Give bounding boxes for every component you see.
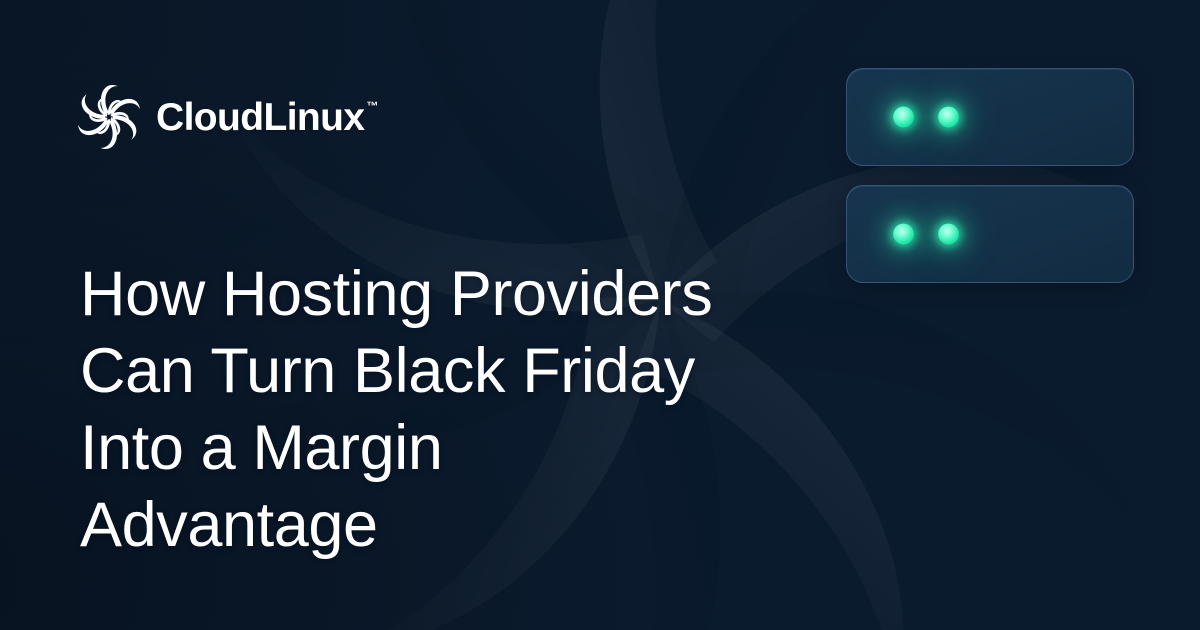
social-card: CloudLinux ™ How Hosting Providers Can T… — [0, 0, 1200, 630]
headline-line-4: Advantage — [80, 487, 800, 564]
server-rack-graphic — [846, 68, 1134, 283]
cloudlinux-swirl-icon — [76, 84, 142, 150]
status-led — [893, 224, 914, 245]
server-rack-bottom — [846, 185, 1134, 283]
status-led — [893, 107, 914, 128]
headline-line-2: Can Turn Black Friday — [80, 333, 800, 410]
brand-name: CloudLinux — [156, 98, 364, 137]
headline-line-1: How Hosting Providers — [80, 256, 800, 333]
server-rack-top — [846, 68, 1134, 166]
cloudlinux-wordmark: CloudLinux ™ — [156, 98, 378, 137]
led-group-top — [893, 107, 959, 128]
trademark-symbol: ™ — [366, 100, 378, 112]
cloudlinux-logo[interactable]: CloudLinux ™ — [76, 84, 378, 150]
headline-line-3: Into a Margin — [80, 410, 800, 487]
led-group-bottom — [893, 224, 959, 245]
status-led — [938, 107, 959, 128]
status-led — [938, 224, 959, 245]
page-title: How Hosting Providers Can Turn Black Fri… — [80, 256, 800, 564]
